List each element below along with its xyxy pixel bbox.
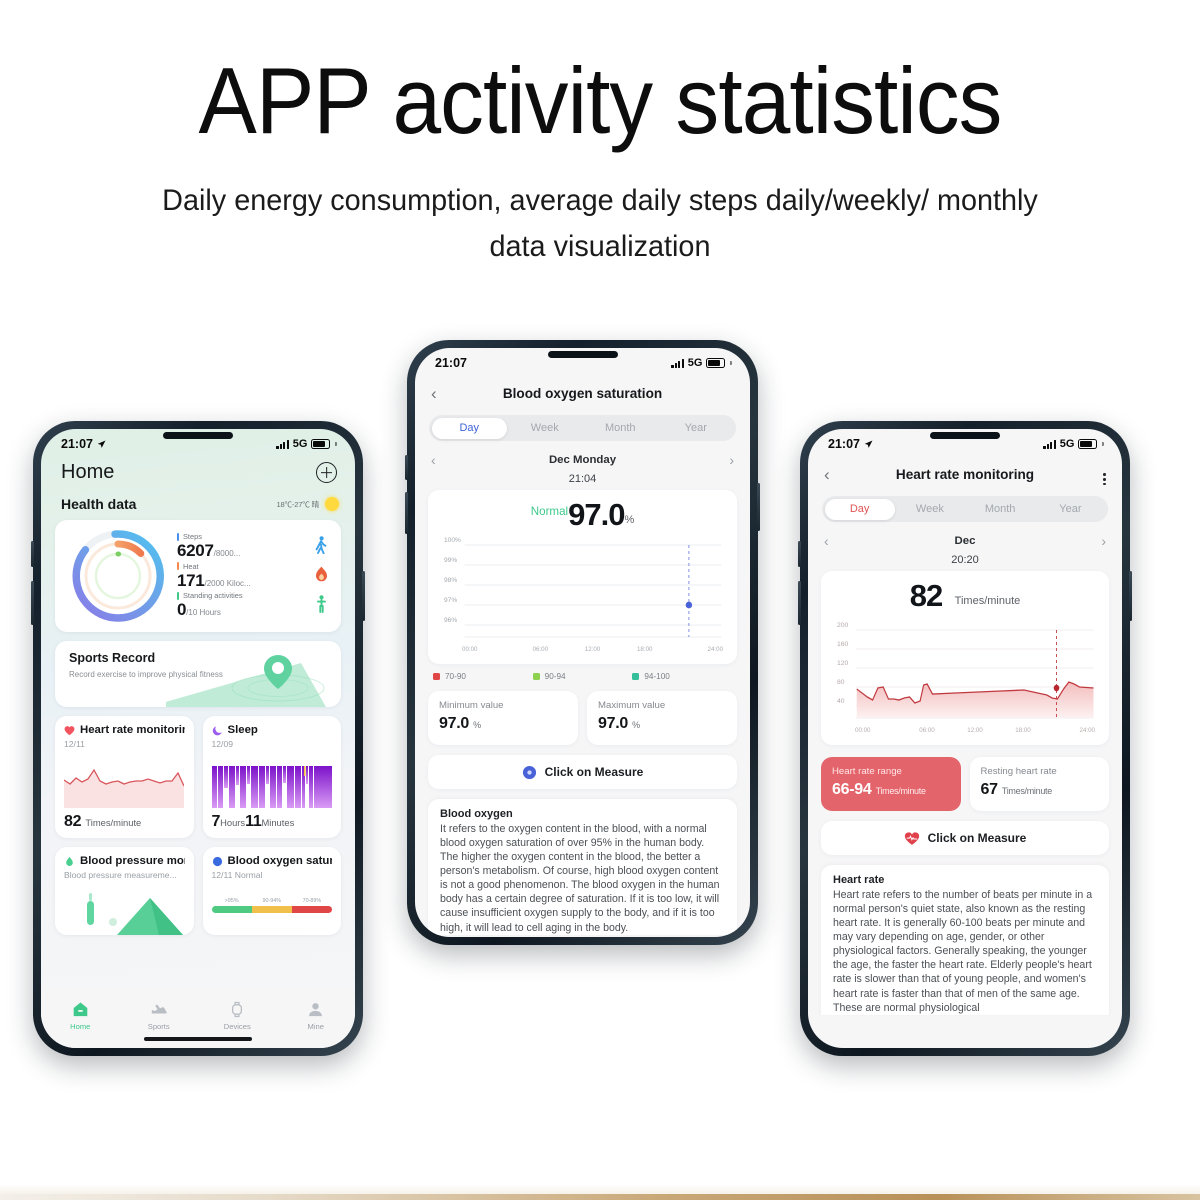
home-title: Home <box>61 461 114 484</box>
legend-label: 94-100 <box>644 672 670 681</box>
x-tick: 00:00 <box>462 646 514 653</box>
scale-tick: 90-94% <box>252 898 292 904</box>
reading-unit: Times/minute <box>955 595 1021 607</box>
wood-surface-strip <box>0 1194 1200 1200</box>
tab-label: Devices <box>198 1022 277 1031</box>
metric-value: 171 <box>177 571 204 590</box>
stat-unit: % <box>632 720 640 730</box>
watch-icon <box>198 999 277 1019</box>
stat-key: Maximum value <box>598 700 726 713</box>
chevron-left-icon[interactable]: ‹ <box>431 452 447 468</box>
legend-label: 70-90 <box>445 672 466 681</box>
blood-pressure-card[interactable]: Blood pressure mor Blood pressure measur… <box>55 847 194 935</box>
card-title: Blood pressure mor <box>80 855 185 867</box>
tab-label: Sports <box>120 1022 199 1031</box>
card-date: 12/09 <box>212 739 333 749</box>
stat-unit: % <box>473 720 481 730</box>
legend-item: 94-100 <box>632 672 732 681</box>
sun-icon <box>325 497 339 511</box>
y-tick: 200 <box>837 622 848 629</box>
phone-notch <box>163 432 233 439</box>
stat-unit: Times/minute <box>1002 786 1052 796</box>
reading-time: 21:04 <box>415 468 750 485</box>
more-vertical-icon[interactable] <box>1084 463 1106 486</box>
reading-time: 20:20 <box>808 549 1122 566</box>
reading-unit: % <box>624 514 634 526</box>
sleep-minutes: 11 <box>245 813 261 830</box>
tab-label: Mine <box>277 1022 356 1031</box>
blood-pressure-illustration <box>55 891 194 935</box>
segment-week[interactable]: Week <box>895 499 965 520</box>
chart-legend: 70-90 90-94 94-100 <box>415 664 750 681</box>
info-title: Heart rate <box>833 874 1097 886</box>
phone-power-button <box>1129 571 1132 621</box>
location-arrow-icon <box>864 440 873 449</box>
phone-notch <box>930 432 1000 439</box>
surface-fade <box>0 1184 1200 1194</box>
metric-value: 6207 <box>177 541 214 560</box>
segment-day[interactable]: Day <box>825 499 895 520</box>
phone-side-button <box>405 455 408 480</box>
page-title: APP activity statistics <box>42 52 1158 150</box>
blood-oxygen-card[interactable]: Blood oxygen satur 12/11 Normal >95% 90-… <box>203 847 342 935</box>
click-on-measure-button[interactable]: Click on Measure <box>821 821 1109 855</box>
blood-oxygen-info-card: Blood oxygen It refers to the oxygen con… <box>428 799 737 935</box>
y-tick: 97% <box>444 597 457 604</box>
shoe-icon <box>120 999 199 1019</box>
weather-info: 18℃-27℃ 晴 <box>276 497 339 511</box>
legend-item: 90-94 <box>533 672 633 681</box>
metric-row: Standing activities 0/10 Hours <box>177 591 331 620</box>
health-data-card[interactable]: Steps 6207/8000... Heat 171/2000 Kiloc..… <box>55 520 341 632</box>
heart-rate-chart-card: 82 Times/minute <box>821 571 1109 745</box>
card-title: Sleep <box>228 724 258 736</box>
flame-icon <box>311 566 331 586</box>
metric-row: Steps 6207/8000... <box>177 532 331 561</box>
stat-key: Heart rate range <box>832 766 950 779</box>
y-tick: 99% <box>444 557 457 564</box>
page-subtitle: Daily energy consumption, average daily … <box>158 178 1041 269</box>
stat-value: 66-94 <box>832 781 871 798</box>
metric-label: Heat <box>183 562 199 571</box>
location-arrow-icon <box>97 440 106 449</box>
page-heading: Blood oxygen saturation <box>453 386 712 401</box>
maximum-value-card: Maximum value 97.0 % <box>587 691 737 745</box>
status-time: 21:07 <box>435 356 467 370</box>
minimum-value-card: Minimum value 97.0 % <box>428 691 578 745</box>
date-navigator[interactable]: ‹ Dec › <box>808 522 1122 549</box>
heart-pulse-icon <box>904 831 920 846</box>
heart-icon <box>64 725 75 736</box>
stat-unit: Times/minute <box>876 786 926 796</box>
legend-item: 70-90 <box>433 672 533 681</box>
y-tick: 100% <box>444 537 461 544</box>
segment-month[interactable]: Month <box>583 418 659 439</box>
card-date: 12/11 <box>64 739 185 749</box>
card-title: Heart rate monitorin <box>80 724 185 736</box>
metric-unit: /2000 Kiloc... <box>204 579 250 588</box>
date-navigator[interactable]: ‹ Dec Monday › <box>415 441 750 468</box>
y-tick: 120 <box>837 660 848 667</box>
sleep-minutes-unit: Minutes <box>261 817 294 828</box>
segment-day[interactable]: Day <box>432 418 508 439</box>
resting-heart-rate-card: Resting heart rate 67 Times/minute <box>970 757 1110 811</box>
card-desc: 12/11 Normal <box>212 870 333 880</box>
sports-record-card[interactable]: Sports Record Record exercise to improve… <box>55 641 341 707</box>
segment-year[interactable]: Year <box>658 418 734 439</box>
reading-value: 97.0 <box>568 497 624 532</box>
card-desc: Blood pressure measureme... <box>64 870 185 880</box>
y-tick: 40 <box>837 698 845 705</box>
standing-person-icon <box>311 595 331 616</box>
heart-rate-info-card: Heart rate Heart rate refers to the numb… <box>821 865 1109 1015</box>
phone-mockup-blood-oxygen: 21:07 5G ‹ Blood oxygen saturation Day W… <box>407 340 758 945</box>
sleep-hours: 7 <box>212 813 221 830</box>
home-sleep-mini-chart <box>212 766 332 808</box>
phone-power-button <box>757 483 760 531</box>
info-body: Heart rate refers to the number of beats… <box>833 888 1097 1015</box>
network-label: 5G <box>688 357 703 369</box>
stat-value: 67 <box>981 781 998 798</box>
status-time: 21:07 <box>828 437 860 451</box>
metric-row: Heat 171/2000 Kiloc... <box>177 562 331 591</box>
phone-side-button <box>798 541 801 567</box>
tab-sports[interactable]: Sports <box>120 999 199 1031</box>
metric-unit: /10 Hours <box>186 608 221 617</box>
status-time: 21:07 <box>61 437 93 451</box>
weather-text: 18℃-27℃ 晴 <box>276 499 319 510</box>
tab-home[interactable]: Home <box>41 999 120 1031</box>
tab-devices[interactable]: Devices <box>198 999 277 1031</box>
segment-week[interactable]: Week <box>507 418 583 439</box>
home-icon <box>41 999 120 1019</box>
chevron-left-icon[interactable]: ‹ <box>431 385 453 402</box>
walking-person-icon <box>311 536 331 557</box>
click-on-measure-button[interactable]: Click on Measure <box>428 755 737 789</box>
signal-bars-icon <box>1043 440 1055 449</box>
date-label: Dec Monday <box>447 454 718 466</box>
y-tick: 160 <box>837 641 848 648</box>
x-tick: 06:00 <box>903 727 951 734</box>
phone-volume-button <box>405 492 408 534</box>
chevron-left-icon[interactable]: ‹ <box>824 466 846 483</box>
phone-volume-button <box>798 581 801 625</box>
x-tick: 24:00 <box>671 646 723 653</box>
x-tick: 18:00 <box>999 727 1047 734</box>
circle-icon <box>212 856 223 867</box>
phone-volume-button <box>31 581 34 625</box>
stat-value: 97.0 <box>439 715 469 732</box>
blood-oxygen-chart-card: Normal97.0% 100% <box>428 490 737 664</box>
measure-label: Click on Measure <box>928 831 1027 845</box>
plus-circle-icon[interactable] <box>316 462 337 483</box>
drop-icon <box>64 856 75 867</box>
stat-key: Minimum value <box>439 700 567 713</box>
legend-label: 90-94 <box>545 672 566 681</box>
phone-mockup-heart-rate: 21:07 5G ‹ Heart rate monitoring Day Wee… <box>800 421 1130 1056</box>
moon-icon <box>212 725 223 736</box>
card-unit: Times/minute <box>85 817 141 828</box>
y-tick: 80 <box>837 679 845 686</box>
metric-value: 0 <box>177 600 186 619</box>
x-tick: 06:00 <box>514 646 566 653</box>
current-reading: 82 Times/minute <box>833 578 1097 614</box>
tab-mine[interactable]: Mine <box>277 999 356 1031</box>
x-tick: 00:00 <box>855 727 903 734</box>
network-label: 5G <box>293 438 308 450</box>
heart-rate-day-chart[interactable]: 200 160 120 80 40 00:00 06:00 12:00 18:0… <box>833 618 1097 736</box>
phone-notch <box>548 351 618 358</box>
reading-value: 82 <box>910 578 942 613</box>
card-title: Blood oxygen satur <box>228 855 333 867</box>
metric-label: Steps <box>183 532 202 541</box>
info-body: It refers to the oxygen content in the b… <box>440 822 725 935</box>
metric-unit: /8000... <box>214 549 241 558</box>
x-tick: 18:00 <box>619 646 671 653</box>
health-data-heading: Health data <box>61 496 136 512</box>
info-title: Blood oxygen <box>440 808 725 820</box>
battery-icon <box>311 439 330 449</box>
segment-year[interactable]: Year <box>1035 499 1105 520</box>
scale-tick: 70-89% <box>292 898 332 904</box>
scale-tick: >95% <box>212 898 252 904</box>
blood-oxygen-day-chart[interactable]: 100% 99% 98% 97% 96% 00:00 06:00 12:00 1… <box>440 537 725 655</box>
measure-label: Click on Measure <box>545 765 644 779</box>
map-pin-icon <box>166 641 341 707</box>
stat-key: Resting heart rate <box>981 766 1099 779</box>
y-tick: 96% <box>444 617 457 624</box>
chevron-right-icon[interactable]: › <box>1090 533 1106 549</box>
period-segmented-control[interactable]: Day Week Month Year <box>822 496 1108 522</box>
chevron-right-icon[interactable]: › <box>718 452 734 468</box>
chevron-left-icon[interactable]: ‹ <box>824 533 840 549</box>
stat-value: 97.0 <box>598 715 628 732</box>
home-indicator <box>144 1037 252 1041</box>
phone-mockup-home: 21:07 5G Home Health data 18℃-27℃ 晴 <box>33 421 363 1056</box>
person-icon <box>277 999 356 1019</box>
tab-label: Home <box>41 1022 120 1031</box>
activity-rings-chart <box>59 530 177 622</box>
phone-side-button <box>31 541 34 567</box>
heart-rate-monitoring-card[interactable]: Heart rate monitorin 12/11 82 Times/minu… <box>55 716 194 838</box>
current-reading: Normal97.0% <box>440 497 725 533</box>
blood-oxygen-scale: >95% 90-94% 70-89% <box>212 898 333 913</box>
home-heart-rate-mini-chart <box>64 766 184 808</box>
oxygen-measure-icon <box>522 765 537 780</box>
battery-icon <box>706 358 725 368</box>
sleep-card[interactable]: Sleep 12/09 <box>203 716 342 838</box>
signal-bars-icon <box>276 440 288 449</box>
x-tick: 12:00 <box>566 646 618 653</box>
phone-power-button <box>362 571 365 621</box>
page-heading: Heart rate monitoring <box>846 467 1084 482</box>
y-tick: 98% <box>444 577 457 584</box>
period-segmented-control[interactable]: Day Week Month Year <box>429 415 736 441</box>
network-label: 5G <box>1060 438 1075 450</box>
x-tick: 24:00 <box>1047 727 1095 734</box>
sleep-hours-unit: Hours <box>220 817 245 828</box>
card-value: 82 <box>64 813 81 830</box>
reading-status: Normal <box>531 505 568 518</box>
metric-label: Standing activities <box>183 591 243 600</box>
heart-rate-range-card: Heart rate range 66-94 Times/minute <box>821 757 961 811</box>
signal-bars-icon <box>671 359 683 368</box>
date-label: Dec <box>840 535 1090 547</box>
segment-month[interactable]: Month <box>965 499 1035 520</box>
battery-icon <box>1078 439 1097 449</box>
x-tick: 12:00 <box>951 727 999 734</box>
